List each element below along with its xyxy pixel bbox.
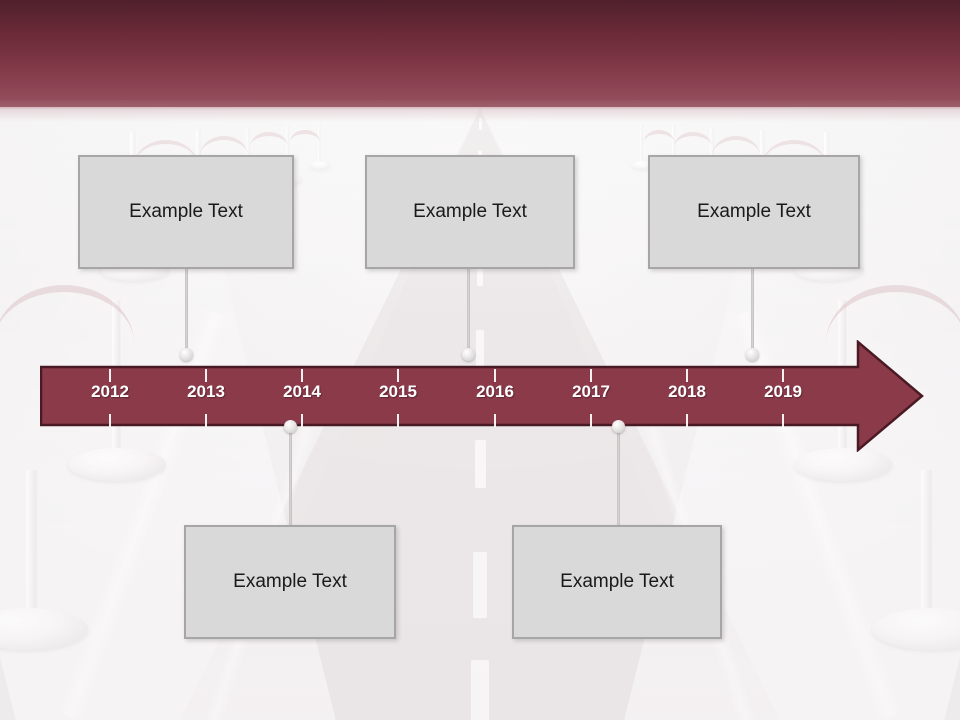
year-tick-top [205,369,207,382]
callout-text: Example Text [697,201,811,223]
connector-dot-top-3[interactable] [746,348,759,361]
year-tick-top [109,369,111,382]
year-label-2019[interactable]: 2019 [738,382,828,402]
callout-text: Example Text [129,201,243,223]
year-label-2016[interactable]: 2016 [450,382,540,402]
callout-text: Example Text [413,201,527,223]
connector-dot-top-2[interactable] [462,348,475,361]
callout-box-top-2[interactable]: Example Text [365,155,575,269]
year-tick-bottom [397,414,399,427]
year-label-2012[interactable]: 2012 [65,382,155,402]
timeline-slide: Timeline – Your Title Text Here Example … [0,0,960,720]
connector-dot-bottom-1[interactable] [284,420,297,433]
year-label-2015[interactable]: 2015 [353,382,443,402]
title-bar-fade [0,100,960,122]
year-label-2018[interactable]: 2018 [642,382,732,402]
year-tick-bottom [301,414,303,427]
year-tick-bottom [109,414,111,427]
year-label-2014[interactable]: 2014 [257,382,347,402]
year-tick-top [397,369,399,382]
year-tick-bottom [782,414,784,427]
year-tick-top [782,369,784,382]
year-tick-bottom [590,414,592,427]
title-bar [0,0,960,107]
callout-text: Example Text [560,571,674,593]
callout-box-bottom-1[interactable]: Example Text [184,525,396,639]
year-tick-top [494,369,496,382]
callout-box-top-3[interactable]: Example Text [648,155,860,269]
callout-box-bottom-2[interactable]: Example Text [512,525,722,639]
year-tick-top [686,369,688,382]
year-tick-bottom [686,414,688,427]
connector-dot-bottom-2[interactable] [612,420,625,433]
year-tick-top [590,369,592,382]
year-tick-bottom [205,414,207,427]
year-tick-bottom [494,414,496,427]
connector-dot-top-1[interactable] [180,348,193,361]
year-label-2017[interactable]: 2017 [546,382,636,402]
callout-text: Example Text [233,571,347,593]
year-label-2013[interactable]: 2013 [161,382,251,402]
year-tick-top [301,369,303,382]
callout-box-top-1[interactable]: Example Text [78,155,294,269]
